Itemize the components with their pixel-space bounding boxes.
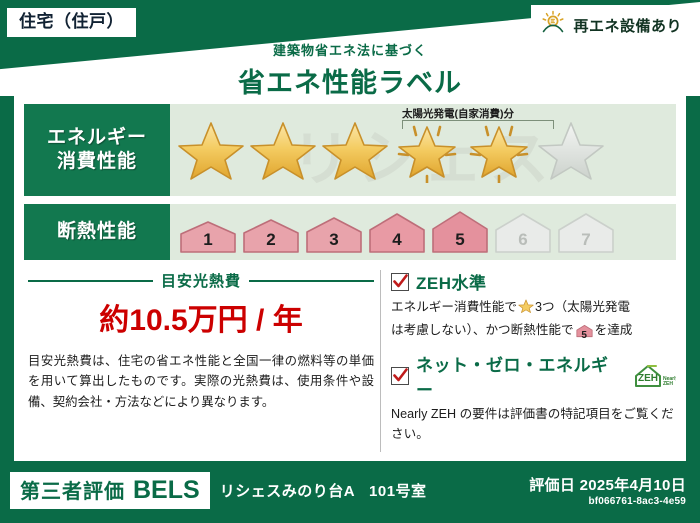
building-type-tag: 住宅（住戸）: [6, 7, 137, 38]
net-zero-checkbox[interactable]: [391, 367, 409, 385]
insulation-label-text: 断熱性能: [57, 220, 137, 244]
evaluation-date-label: 評価日: [529, 477, 575, 494]
utility-cost-heading: 目安光熱費: [28, 270, 374, 291]
evaluation-date-value: 2025年4月10日: [580, 477, 686, 494]
insulation-house-6-number: 6: [493, 230, 553, 250]
inline-house-icon: 5: [576, 324, 593, 344]
inline-star-icon: [518, 298, 534, 320]
insulation-house-2: 2: [241, 217, 301, 255]
renewable-badge-label: 再エネ設備あり: [573, 15, 682, 36]
insulation-house-5: 5: [430, 209, 490, 255]
insulation-house-2-number: 2: [241, 230, 301, 250]
insulation-house-1-number: 1: [178, 230, 238, 250]
cost-rule-left: [28, 280, 153, 282]
insulation-house-4-number: 4: [367, 230, 427, 250]
solar-sun-icon: [540, 10, 566, 41]
label-main-card: エネルギー 消費性能 リシェス 太陽光発電(自家消費)分: [14, 95, 686, 461]
cost-heading-text: 目安光熱費: [161, 270, 241, 291]
vertical-divider: [380, 270, 381, 452]
check-item-zeh-standard: ZEH水準 エネルギー消費性能で3つ（太陽光発電は考慮しない）、かつ断熱性能で5…: [391, 269, 676, 344]
utility-cost-note: 目安光熱費は、住宅の省エネ性能と全国一律の燃料等の単価を用いて算出したものです。…: [28, 351, 374, 412]
energy-label-line1: エネルギー: [47, 126, 147, 150]
star-filled-3: [320, 117, 390, 183]
energy-label-line2: 消費性能: [57, 150, 137, 174]
zeh-standard-checkbox[interactable]: [391, 273, 409, 291]
svg-text:ZEH: ZEH: [638, 373, 658, 384]
zeh-desc-star-count: 3つ（太陽光発電: [535, 300, 630, 314]
insulation-performance-label: 断熱性能: [24, 204, 170, 260]
utility-cost-value: 約10.5万円 / 年: [28, 295, 374, 339]
zeh-standard-description: エネルギー消費性能で3つ（太陽光発電は考慮しない）、かつ断熱性能で5を達成: [391, 297, 676, 344]
bels-certification-box: 第三者評価 BELS: [10, 472, 210, 509]
zeh-standard-head: ZEH水準: [391, 269, 676, 294]
insulation-levels-area: 1 2 3 4: [170, 204, 676, 260]
insulation-level-scale: 1 2 3 4: [170, 209, 616, 255]
page-title: 省エネ性能ラベル: [0, 61, 700, 100]
zeh-standard-title: ZEH水準: [416, 269, 487, 294]
net-zero-description: Nearly ZEH の要件は評価書の特記項目をご覧ください。: [391, 404, 676, 444]
property-room-number: 101号室: [369, 480, 427, 501]
star-filled-2: [248, 117, 318, 183]
certification-checks-section: ZEH水準 エネルギー消費性能で3つ（太陽光発電は考慮しない）、かつ断熱性能で5…: [391, 268, 676, 452]
check-item-net-zero-energy: ネット・ゼロ・エネルギー ZEH Nearly ZEH Nearly ZEH の…: [391, 351, 676, 444]
insulation-house-7-number: 7: [556, 230, 616, 250]
label-detail-area: 目安光熱費 約10.5万円 / 年 目安光熱費は、住宅の省エネ性能と全国一律の燃…: [24, 268, 676, 452]
zeh-logo: ZEH Nearly ZEH: [632, 363, 676, 390]
zeh-desc-part1: エネルギー消費性能で: [391, 300, 517, 314]
net-zero-head: ネット・ゼロ・エネルギー ZEH Nearly ZEH: [391, 351, 676, 401]
evaluation-info: 評価日 2025年4月10日 bf066761-8ac3-4e59: [529, 474, 690, 507]
insulation-house-7: 7: [556, 211, 616, 255]
label-footer: 第三者評価 BELS リシェスみのり台A 101号室 評価日 2025年4月10…: [0, 461, 700, 523]
net-zero-title: ネット・ゼロ・エネルギー: [416, 351, 621, 401]
solar-annotation-bracket: [402, 120, 554, 129]
insulation-house-3: 3: [304, 215, 364, 255]
evaluation-id: bf066761-8ac3-4e59: [529, 496, 686, 507]
energy-performance-row: エネルギー 消費性能 リシェス 太陽光発電(自家消費)分: [24, 104, 676, 196]
insulation-house-5-number: 5: [430, 230, 490, 250]
bels-energy-label: 住宅（住戸） 再エネ設備あり 建築物省エネ法に基づく 省エネ性能ラベル: [0, 0, 700, 523]
energy-performance-label: エネルギー 消費性能: [24, 104, 170, 196]
solar-annotation-label: 太陽光発電(自家消費)分: [402, 106, 514, 121]
renewable-equipment-badge: 再エネ設備あり: [532, 6, 692, 45]
evaluation-date: 評価日 2025年4月10日: [529, 474, 686, 495]
property-name: リシェスみのり台A: [220, 480, 355, 501]
insulation-house-1: 1: [178, 219, 238, 255]
insulation-house-6: 6: [493, 211, 553, 255]
utility-cost-section: 目安光熱費 約10.5万円 / 年 目安光熱費は、住宅の省エネ性能と全国一律の燃…: [24, 268, 380, 452]
cost-rule-right: [249, 280, 374, 282]
label-title-block: 建築物省エネ法に基づく 省エネ性能ラベル: [0, 40, 700, 100]
zeh-desc-part3: を達成: [595, 323, 633, 337]
zeh-desc-part2: は考慮しない）、かつ断熱性能で: [391, 323, 574, 337]
insulation-performance-row: 断熱性能 1 2 3: [24, 204, 676, 260]
star-filled-1: [176, 117, 246, 183]
bels-label: BELS: [133, 476, 200, 505]
third-party-label: 第三者評価: [20, 475, 125, 504]
insulation-house-3-number: 3: [304, 230, 364, 250]
svg-text:ZEH: ZEH: [663, 381, 673, 387]
insulation-house-4: 4: [367, 211, 427, 255]
inline-house-number: 5: [576, 328, 593, 344]
energy-stars-area: リシェス 太陽光発電(自家消費)分: [170, 104, 676, 196]
